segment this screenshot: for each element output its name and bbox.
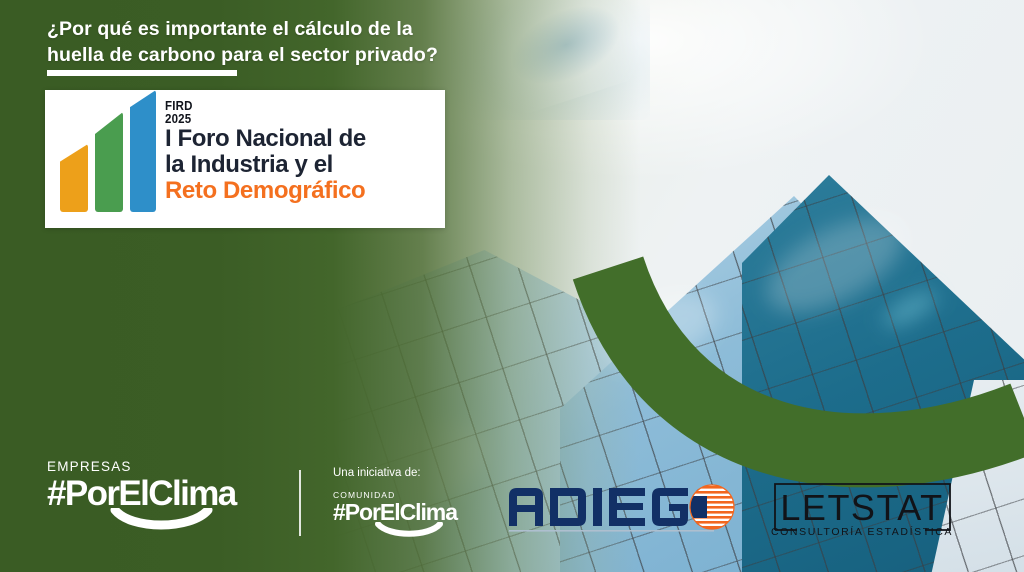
event-name-line-2: la Industria y el [165,152,366,178]
comunidad-kicker: COMUNIDAD [333,491,483,500]
event-logo-text: FIRD 2025 I Foro Nacional de la Industri… [149,98,435,220]
slide-canvas: ¿Por qué es importante el cálculo de la … [0,0,1024,572]
logo-empresas-porelclima: EMPRESAS #PorElClima [47,460,277,534]
page-title: ¿Por qué es importante el cálculo de la … [47,17,507,68]
porelclima-kicker: EMPRESAS [47,460,277,474]
event-logo-card: FIRD 2025 I Foro Nacional de la Industri… [45,90,445,228]
letstat-tagline-text: CONSULTORÍA ESTADÍSTICA [771,525,953,538]
footer-divider [299,470,301,536]
page-title-line-1: ¿Por qué es importante el cálculo de la [47,18,413,40]
bar-orange-icon [60,144,88,212]
event-badge-acronym: FIRD [165,100,193,113]
bar-green-icon [95,112,123,212]
initiative-lead-text: Una iniciativa de: [333,468,483,480]
adiego-globe-icon [689,484,737,532]
comunidad-wordmark: #PorElClima [333,500,483,524]
event-badge-year: 2025 [165,113,193,126]
event-badge: FIRD 2025 [165,100,193,126]
title-underline-rule [47,70,237,76]
logo-letstat: LETSTAT CONSULTORÍA ESTADÍSTICA [765,478,960,540]
logo-comunidad-porelclima: Una iniciativa de: COMUNIDAD #PorElClima [333,468,483,540]
event-name: I Foro Nacional de la Industria y el Ret… [165,126,366,204]
event-name-line-1: I Foro Nacional de [165,126,366,152]
bar-chart-icon [57,98,149,220]
porelclima-wordmark: #PorElClima [47,476,277,513]
page-title-line-2: huella de carbono para el sector privado… [47,44,438,66]
logo-adiego [505,478,740,536]
event-name-line-3: Reto Demográfico [165,178,366,204]
letstat-wordmark-text: LETSTAT [780,487,943,528]
